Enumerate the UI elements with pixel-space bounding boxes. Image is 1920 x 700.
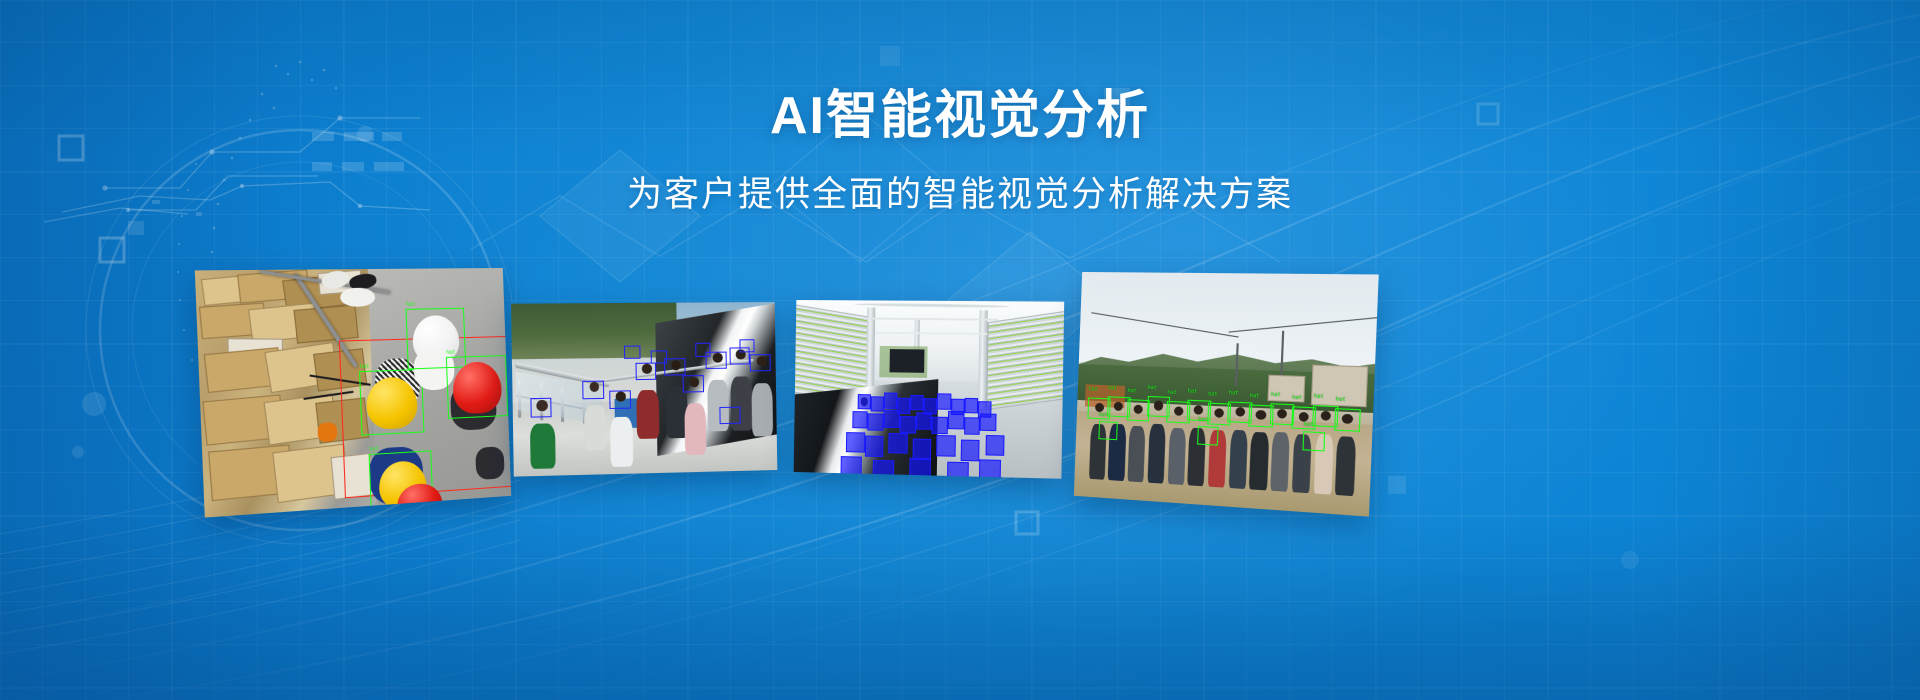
detection-label-hat: hat [1271, 392, 1281, 399]
detection-box-person [871, 396, 884, 412]
detection-box-person [980, 414, 997, 432]
detection-box-person [937, 435, 956, 456]
detection-box-person [932, 416, 948, 434]
platform-display-screen [890, 349, 925, 372]
detection-box-person [841, 456, 862, 476]
detection-label-hat: hat [1229, 390, 1239, 397]
detection-box-face [624, 346, 640, 360]
gallery-card-platform-crowd-detection[interactable] [794, 300, 1065, 479]
detection-box-hat [1197, 426, 1218, 446]
detection-label-hat: hat [1089, 387, 1098, 393]
detection-label-hat: hat [1198, 417, 1208, 424]
detection-box-person [961, 439, 980, 460]
bottom-gradient-band [0, 570, 1920, 700]
platform-scene [794, 300, 1065, 479]
detection-box-face [750, 354, 771, 371]
detection-box-person [868, 413, 884, 431]
detection-box-person [852, 411, 868, 429]
showcase-gallery: hat hat hat hat [0, 258, 1920, 548]
detection-box-face [651, 350, 667, 364]
outdoor-photo: hat hat hat hat hat hat hat hat [1074, 272, 1379, 517]
detection-box-person [846, 432, 865, 453]
page-subtitle: 为客户提供全面的智能视觉分析解决方案 [0, 173, 1920, 217]
detection-box-hat [1334, 409, 1360, 432]
detection-box-face [683, 375, 704, 392]
detection-label-hat: hat [1208, 391, 1218, 398]
ai-vision-banner: AI智能视觉分析 为客户提供全面的智能视觉分析解决方案 [0, 0, 1920, 700]
detection-box-person [947, 462, 969, 479]
detection-box-face [609, 390, 630, 409]
walkway-scene [511, 302, 777, 477]
gallery-card-outdoor-hat-detection[interactable]: hat hat hat hat hat hat hat hat [1074, 272, 1379, 517]
detection-box-person [857, 394, 870, 410]
detection-box-person [964, 417, 981, 435]
detection-label-hat: hat [1335, 397, 1345, 404]
warehouse-photo: hat hat hat hat [195, 268, 511, 518]
detection-box-person [865, 436, 884, 457]
detection-label-hat: hat [1188, 388, 1198, 395]
detection-box-person [909, 458, 931, 478]
detection-label-hat: hat [1314, 393, 1324, 400]
banner-text-block: AI智能视觉分析 为客户提供全面的智能视觉分析解决方案 [0, 86, 1920, 217]
walkway-photo [511, 302, 777, 477]
detection-box-person [979, 459, 1001, 479]
detection-label-hat: hat [1292, 395, 1302, 402]
detection-box-person [911, 395, 925, 411]
detection-label-hat: hat [1128, 388, 1137, 394]
detection-box-face [720, 407, 741, 424]
detection-label-hat: hat [1108, 385, 1117, 391]
page-title: AI智能视觉分析 [0, 86, 1920, 147]
detection-box-person [964, 397, 978, 413]
detection-box-face [530, 398, 552, 417]
detection-box-person [872, 460, 894, 479]
detection-label-hat: hat [1167, 390, 1176, 397]
detection-box-person [912, 438, 931, 459]
detection-box-person [985, 435, 1004, 456]
detection-box-person [948, 411, 964, 429]
detection-box-face [582, 380, 604, 399]
detection-box-face [664, 359, 685, 376]
detection-box-face [695, 343, 711, 357]
detection-box-person [884, 410, 900, 428]
detection-box-hat [1098, 421, 1118, 440]
gallery-card-warehouse-helmet-detection[interactable]: hat hat hat hat [195, 268, 511, 518]
detection-box-face [739, 339, 755, 353]
detection-box-person [916, 412, 932, 430]
detection-box-person [937, 393, 951, 409]
detection-box-person [884, 393, 898, 409]
gallery-card-walkway-face-detection[interactable] [511, 302, 777, 477]
detection-label-hat: hat [1099, 412, 1108, 418]
detection-label-hat: hat [1148, 384, 1157, 390]
detection-label-hat: hat [1303, 422, 1313, 429]
detection-box-person [889, 433, 908, 454]
platform-photo [794, 300, 1065, 479]
detection-box-face [635, 362, 656, 379]
detection-box-hat [1302, 431, 1324, 451]
outdoor-scene: hat hat hat hat hat hat hat hat [1074, 272, 1379, 517]
detection-box-person [900, 415, 916, 433]
detection-label-hat: hat [1250, 393, 1260, 400]
detection-box-helmet: hat [445, 355, 508, 419]
warehouse-scene: hat hat hat hat [195, 268, 511, 518]
